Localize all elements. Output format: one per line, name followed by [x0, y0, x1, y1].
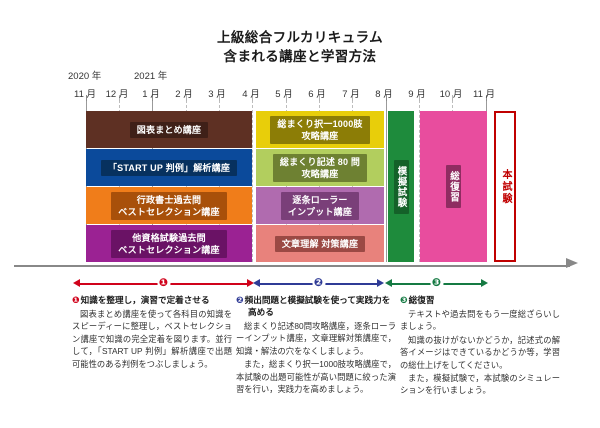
phase-arrow-head-left-icon — [385, 279, 392, 287]
gridline-9 — [386, 100, 387, 262]
exam-box-label: 本試験 — [499, 169, 511, 205]
year-label-0: 2020 年 — [68, 68, 101, 82]
phase-arrow-head-right-icon — [377, 279, 384, 287]
phase-arrow-head-left-icon — [253, 279, 260, 287]
course-bar-startup-hanrei[interactable]: 「START UP 判例」解析講座 — [86, 149, 252, 186]
month-label-8: 7 月 — [342, 86, 359, 100]
month-label-3: 2 月 — [175, 86, 192, 100]
note-column-3: ❸総復習テキストや過去問をもう一度総ざらいしましょう。知識の抜けがないかどうか，… — [400, 294, 560, 397]
month-label-0: 11 月 — [74, 86, 96, 100]
course-bar-label: 模擬試験 — [394, 160, 409, 214]
note-heading-2: ❷頻出問題と模擬試験を使って実践力を高める — [236, 294, 396, 318]
time-axis-line — [14, 265, 570, 267]
course-bar-bunshou-rikai-taisaku[interactable]: 文章理解 対策講座 — [256, 225, 384, 262]
phase-arrow-1: ❶ — [73, 277, 254, 291]
curriculum-timeline-figure: 上級総合フルカリキュラム 含まれる講座と学習方法 2020 年2021 年 11… — [0, 0, 600, 428]
note-paragraph: 総まくり記述80問攻略講座，逐条ローラーインプット講座，文章理解対策講座で，知識… — [236, 320, 396, 357]
phase-badge-2: ❷ — [312, 277, 325, 290]
course-bar-zuhyou-matome[interactable]: 図表まとめ講座 — [86, 111, 252, 148]
month-label-11: 10 月 — [440, 86, 463, 100]
phase-badge-1: ❶ — [157, 277, 170, 290]
course-bar-tashikaku-kakomon[interactable]: 他資格試験過去問 ベストセレクション講座 — [86, 225, 252, 262]
note-heading-text: 知識を整理し，演習で定着させる — [81, 295, 210, 305]
month-label-5: 4 月 — [242, 86, 259, 100]
note-paragraph: 知識の抜けがないかどうか，記述式の解答イメージはできているかどうか等，学習の総仕… — [400, 334, 560, 371]
note-number-badge: ❷ — [236, 295, 244, 305]
month-label-4: 3 月 — [208, 86, 225, 100]
phase-badge-3: ❸ — [430, 277, 443, 290]
month-label-1: 12 月 — [106, 86, 129, 100]
month-label-9: 8 月 — [375, 86, 392, 100]
course-bar-label: 逐条ローラー インプット講座 — [281, 192, 359, 220]
exam-box-hon-shiken[interactable]: 本試験 — [494, 111, 516, 262]
course-bar-label: 総まくり択一1000肢 攻略講座 — [270, 116, 369, 144]
phase-arrow-3: ❸ — [385, 277, 488, 291]
course-bar-somakuri-kijutsu-80[interactable]: 総まくり記述 80 問 攻略講座 — [256, 149, 384, 186]
course-bar-gyouseishoshi-kakomon[interactable]: 行政書士過去問 ベストセレクション講座 — [86, 187, 252, 224]
note-heading-3: ❸総復習 — [400, 294, 560, 306]
note-column-1: ❶知識を整理し，演習で定着させる図表まとめ講座を使って各科目の知識をスピーディー… — [72, 294, 232, 370]
course-bar-chikujou-roller-input[interactable]: 逐条ローラー インプット講座 — [256, 187, 384, 224]
month-label-2: 1 月 — [142, 86, 159, 100]
course-bar-mogi-shiken[interactable]: 模擬試験 — [388, 111, 414, 262]
note-heading-text: 総復習 — [409, 295, 435, 305]
course-bar-label: 行政書士過去問 ベストセレクション講座 — [111, 192, 226, 220]
note-number-badge: ❶ — [72, 295, 80, 305]
phase-arrow-head-left-icon — [73, 279, 80, 287]
note-paragraph: また，総まくり択一1000肢攻略講座で，本試験の出題可能性が高い問題に絞った演習… — [236, 358, 396, 395]
course-bar-label: 「START UP 判例」解析講座 — [101, 160, 237, 176]
note-paragraph: テキストや過去問をもう一度総ざらいしましょう。 — [400, 308, 560, 333]
month-label-12: 11 月 — [473, 86, 495, 100]
course-bar-label: 文章理解 対策講座 — [275, 236, 365, 252]
course-bar-sou-fukushuu[interactable]: 総復習 — [420, 111, 487, 262]
note-heading-text: 頻出問題と模擬試験を使って実践力を高める — [245, 295, 391, 317]
month-label-6: 5 月 — [275, 86, 292, 100]
note-column-2: ❷頻出問題と模擬試験を使って実践力を高める総まくり記述80問攻略講座，逐条ローラ… — [236, 294, 396, 395]
course-bar-label: 総復習 — [446, 165, 461, 209]
month-label-10: 9 月 — [408, 86, 425, 100]
note-number-badge: ❸ — [400, 295, 408, 305]
course-bar-label: 総まくり記述 80 問 攻略講座 — [273, 154, 367, 182]
course-bar-label: 図表まとめ講座 — [130, 122, 208, 138]
note-paragraph: 図表まとめ講座を使って各科目の知識をスピーディーに整理し，ベストセレクション講座… — [72, 308, 232, 370]
time-axis-arrow-icon — [566, 258, 578, 268]
year-label-1: 2021 年 — [134, 68, 167, 82]
course-bar-somakuri-takuitsu-1000[interactable]: 総まくり択一1000肢 攻略講座 — [256, 111, 384, 148]
course-bar-label: 他資格試験過去問 ベストセレクション講座 — [111, 230, 226, 258]
note-paragraph: また，模擬試験で，本試験のシミュレーションを行いましょう。 — [400, 372, 560, 397]
note-heading-1: ❶知識を整理し，演習で定着させる — [72, 294, 232, 306]
phase-arrow-head-right-icon — [481, 279, 488, 287]
phase-arrow-2: ❷ — [253, 277, 384, 291]
gridline-5 — [252, 100, 253, 262]
month-label-7: 6 月 — [308, 86, 325, 100]
